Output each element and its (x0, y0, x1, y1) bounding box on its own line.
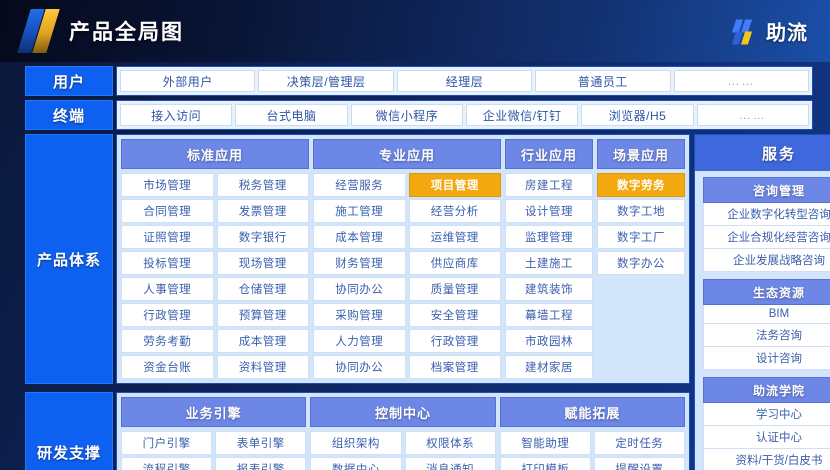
module-cell[interactable]: 人力管理 (313, 329, 406, 353)
module-cell[interactable]: 数字办公 (597, 251, 685, 275)
module-cell[interactable]: 门户引擎 (121, 431, 212, 455)
group-cells: 组织架构数据中心移动协作权限体系消息通知更多 (310, 431, 495, 470)
module-cell[interactable]: 幕墙工程 (505, 303, 593, 327)
module-cell[interactable]: 数据中心 (310, 457, 401, 470)
module-cell[interactable]: 资金台账 (121, 355, 214, 379)
group-cells: 经营服务施工管理成本管理财务管理协同办公采购管理人力管理协同办公项目管理经营分析… (313, 173, 501, 379)
module-cell[interactable]: 投标管理 (121, 251, 214, 275)
group-cells: 数字劳务数字工地数字工厂数字办公 (597, 173, 685, 379)
module-cell[interactable]: 消息通知 (405, 457, 496, 470)
user-chip-4[interactable]: 普通员工 (535, 70, 670, 92)
middle-left: 产品体系 标准应用市场管理合同管理证照管理投标管理人事管理行政管理劳务考勤资金台… (25, 134, 690, 470)
module-cell[interactable]: 采购管理 (313, 303, 406, 327)
module-cell[interactable]: 数字银行 (217, 225, 310, 249)
module-cell[interactable]: 经营服务 (313, 173, 406, 197)
module-cell[interactable]: 证照管理 (121, 225, 214, 249)
service-item[interactable]: 设计咨询 (703, 347, 830, 370)
module-cell[interactable]: 协同办公 (313, 277, 406, 301)
module-cell[interactable]: 报表引擎 (215, 457, 306, 470)
module-cell[interactable]: 成本管理 (217, 329, 310, 353)
module-cell[interactable]: 合同管理 (121, 199, 214, 223)
module-cell[interactable]: 税务管理 (217, 173, 310, 197)
module-cell[interactable]: 资料管理 (217, 355, 310, 379)
module-cell[interactable]: 数字劳务 (597, 173, 685, 197)
row-rnd-support: 研发支撑 业务引擎门户引擎流程引擎搜索引擎表单引擎报表引擎BI引擎控制中心组织架… (25, 392, 690, 470)
group-column-1: 组织架构数据中心移动协作 (310, 431, 401, 470)
module-cell[interactable]: 定时任务 (594, 431, 685, 455)
brand-left: 产品全局图 (22, 9, 184, 53)
module-cell[interactable]: 仓储管理 (217, 277, 310, 301)
panel-service: 服务 咨询管理企业数字化转型咨询企业合规化经营咨询企业发展战略咨询生态资源BIM… (694, 134, 830, 470)
module-cell[interactable]: 安全管理 (409, 303, 502, 327)
module-cell[interactable]: 发票管理 (217, 199, 310, 223)
row-label-rnd-support: 研发支撑 (25, 392, 113, 470)
user-chip-1[interactable]: 外部用户 (120, 70, 255, 92)
module-cell[interactable]: 市政园林 (505, 329, 593, 353)
group-4: 场景应用数字劳务数字工地数字工厂数字办公 (597, 139, 685, 379)
group-column-2: 表单引擎报表引擎BI引擎 (215, 431, 306, 470)
terminal-chip-1[interactable]: 接入访问 (120, 104, 232, 126)
page-title: 产品全局图 (69, 16, 184, 46)
module-cell[interactable]: 行政管理 (409, 329, 502, 353)
group-cells: 市场管理合同管理证照管理投标管理人事管理行政管理劳务考勤资金台账税务管理发票管理… (121, 173, 309, 379)
group-column-1: 房建工程设计管理监理管理土建施工建筑装饰幕墙工程市政园林建材家居 (505, 173, 593, 379)
service-group-title: 咨询管理 (703, 177, 830, 203)
group-1: 标准应用市场管理合同管理证照管理投标管理人事管理行政管理劳务考勤资金台账税务管理… (121, 139, 309, 379)
group-2: 控制中心组织架构数据中心移动协作权限体系消息通知更多 (310, 397, 495, 470)
service-title: 服务 (695, 135, 830, 171)
module-cell[interactable]: 组织架构 (310, 431, 401, 455)
terminal-chip-2[interactable]: 台式电脑 (235, 104, 347, 126)
middle-section: 产品体系 标准应用市场管理合同管理证照管理投标管理人事管理行政管理劳务考勤资金台… (25, 134, 813, 470)
module-cell[interactable]: 项目管理 (409, 173, 502, 197)
module-cell[interactable]: 人事管理 (121, 277, 214, 301)
module-cell[interactable]: 建筑装饰 (505, 277, 593, 301)
group-column-2: 税务管理发票管理数字银行现场管理仓储管理预算管理成本管理资料管理 (217, 173, 310, 379)
lightning-bolt-icon (732, 18, 758, 44)
service-group-2: 生态资源BIM法务咨询设计咨询 (703, 279, 830, 370)
row-label-users: 用户 (25, 66, 113, 96)
brand-right: 助流 (732, 17, 808, 46)
module-cell[interactable]: 表单引擎 (215, 431, 306, 455)
group-3: 行业应用房建工程设计管理监理管理土建施工建筑装饰幕墙工程市政园林建材家居 (505, 139, 593, 379)
group-column-1: 市场管理合同管理证照管理投标管理人事管理行政管理劳务考勤资金台账 (121, 173, 214, 379)
module-cell[interactable]: 数字工厂 (597, 225, 685, 249)
parallelogram-logo-icon (22, 9, 56, 53)
row-body-users: 外部用户决策层/管理层经理层普通员工…… (116, 66, 813, 96)
service-group-3: 助流学院学习中心认证中心资料/干货/白皮书 (703, 377, 830, 470)
group-title: 业务引擎 (121, 397, 306, 427)
module-cell[interactable]: 预算管理 (217, 303, 310, 327)
service-group-title: 生态资源 (703, 279, 830, 305)
user-chip-2[interactable]: 决策层/管理层 (258, 70, 393, 92)
user-chip-5[interactable]: …… (674, 70, 809, 92)
group-cells: 房建工程设计管理监理管理土建施工建筑装饰幕墙工程市政园林建材家居 (505, 173, 593, 379)
module-cell[interactable]: 供应商库 (409, 251, 502, 275)
service-item[interactable]: 企业数字化转型咨询 (703, 203, 830, 226)
group-column-1: 数字劳务数字工地数字工厂数字办公 (597, 173, 685, 379)
diagram-board: 用户 外部用户决策层/管理层经理层普通员工…… 终端 接入访问台式电脑微信小程序… (0, 62, 830, 470)
group-title: 控制中心 (310, 397, 495, 427)
module-cell[interactable]: 房建工程 (505, 173, 593, 197)
module-cell[interactable]: 协同办公 (313, 355, 406, 379)
row-label-product-system: 产品体系 (25, 134, 113, 384)
user-chip-3[interactable]: 经理层 (397, 70, 532, 92)
terminal-chip-6[interactable]: …… (697, 104, 809, 126)
module-cell[interactable]: 数字工地 (597, 199, 685, 223)
group-title: 行业应用 (505, 139, 593, 169)
group-column-2: 权限体系消息通知更多 (405, 431, 496, 470)
service-item[interactable]: 学习中心 (703, 403, 830, 426)
module-cell[interactable]: 智能助理 (500, 431, 591, 455)
service-body: 咨询管理企业数字化转型咨询企业合规化经营咨询企业发展战略咨询生态资源BIM法务咨… (695, 171, 830, 470)
group-column-1: 门户引擎流程引擎搜索引擎 (121, 431, 212, 470)
service-group-1: 咨询管理企业数字化转型咨询企业合规化经营咨询企业发展战略咨询 (703, 177, 830, 272)
module-cell[interactable]: 现场管理 (217, 251, 310, 275)
module-cell[interactable]: 提醒设置 (594, 457, 685, 470)
group-title: 赋能拓展 (500, 397, 685, 427)
row-body-terminals: 接入访问台式电脑微信小程序企业微信/钉钉浏览器/H5…… (116, 100, 813, 130)
module-cell[interactable]: 建材家居 (505, 355, 593, 379)
service-item[interactable]: 资料/干货/白皮书 (703, 449, 830, 470)
group-3: 赋能拓展智能助理打印模板关联表单定时任务提醒设置组件中心 (500, 397, 685, 470)
panel-product-system: 标准应用市场管理合同管理证照管理投标管理人事管理行政管理劳务考勤资金台账税务管理… (116, 134, 690, 384)
module-cell[interactable]: 土建施工 (505, 251, 593, 275)
group-cells: 智能助理打印模板关联表单定时任务提醒设置组件中心 (500, 431, 685, 470)
service-item[interactable]: 认证中心 (703, 426, 830, 449)
service-item[interactable]: BIM (703, 305, 830, 324)
module-cell[interactable]: 质量管理 (409, 277, 502, 301)
row-users: 用户 外部用户决策层/管理层经理层普通员工…… (25, 66, 813, 96)
group-column-2: 定时任务提醒设置组件中心 (594, 431, 685, 470)
module-cell[interactable]: 财务管理 (313, 251, 406, 275)
service-item[interactable]: 企业发展战略咨询 (703, 249, 830, 272)
group-1: 业务引擎门户引擎流程引擎搜索引擎表单引擎报表引擎BI引擎 (121, 397, 306, 470)
row-product-system: 产品体系 标准应用市场管理合同管理证照管理投标管理人事管理行政管理劳务考勤资金台… (25, 134, 690, 384)
module-cell[interactable]: 行政管理 (121, 303, 214, 327)
group-cells: 门户引擎流程引擎搜索引擎表单引擎报表引擎BI引擎 (121, 431, 306, 470)
module-cell[interactable]: 打印模板 (500, 457, 591, 470)
module-cell[interactable]: 档案管理 (409, 355, 502, 379)
panel-rnd-support: 业务引擎门户引擎流程引擎搜索引擎表单引擎报表引擎BI引擎控制中心组织架构数据中心… (116, 392, 690, 470)
group-title: 专业应用 (313, 139, 501, 169)
service-group-title: 助流学院 (703, 377, 830, 403)
module-cell[interactable]: 流程引擎 (121, 457, 212, 470)
group-column-2: 项目管理经营分析运维管理供应商库质量管理安全管理行政管理档案管理 (409, 173, 502, 379)
service-item[interactable]: 企业合规化经营咨询 (703, 226, 830, 249)
terminal-chip-4[interactable]: 企业微信/钉钉 (466, 104, 578, 126)
module-cell[interactable]: 经营分析 (409, 199, 502, 223)
brand-name: 助流 (766, 17, 808, 46)
module-cell[interactable]: 劳务考勤 (121, 329, 214, 353)
group-column-1: 经营服务施工管理成本管理财务管理协同办公采购管理人力管理协同办公 (313, 173, 406, 379)
module-cell[interactable]: 施工管理 (313, 199, 406, 223)
module-cell[interactable]: 监理管理 (505, 225, 593, 249)
group-2: 专业应用经营服务施工管理成本管理财务管理协同办公采购管理人力管理协同办公项目管理… (313, 139, 501, 379)
module-cell[interactable]: 市场管理 (121, 173, 214, 197)
service-item[interactable]: 法务咨询 (703, 324, 830, 347)
row-terminals: 终端 接入访问台式电脑微信小程序企业微信/钉钉浏览器/H5…… (25, 100, 813, 130)
module-cell[interactable]: 运维管理 (409, 225, 502, 249)
terminal-chip-3[interactable]: 微信小程序 (351, 104, 463, 126)
middle-right: 服务 咨询管理企业数字化转型咨询企业合规化经营咨询企业发展战略咨询生态资源BIM… (694, 134, 830, 470)
module-cell[interactable]: 权限体系 (405, 431, 496, 455)
group-title: 场景应用 (597, 139, 685, 169)
app-header: 产品全局图 助流 (0, 0, 830, 62)
module-cell[interactable]: 设计管理 (505, 199, 593, 223)
module-cell[interactable]: 成本管理 (313, 225, 406, 249)
group-column-1: 智能助理打印模板关联表单 (500, 431, 591, 470)
terminal-chip-5[interactable]: 浏览器/H5 (581, 104, 693, 126)
group-title: 标准应用 (121, 139, 309, 169)
row-label-terminals: 终端 (25, 100, 113, 130)
